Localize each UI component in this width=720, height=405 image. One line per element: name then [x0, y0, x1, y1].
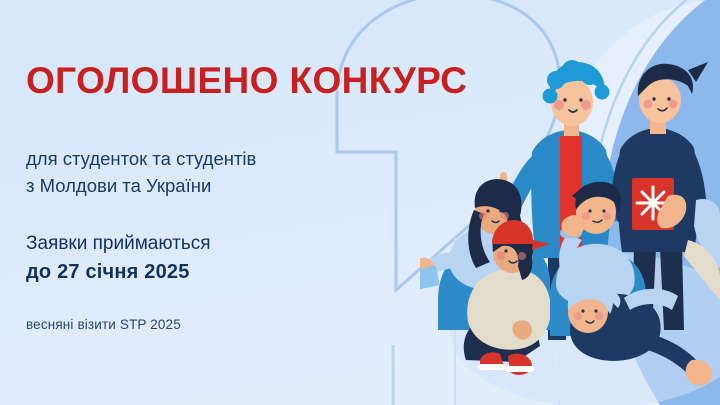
- audience-paragraph: для студенток та студентів з Молдови та …: [26, 145, 256, 200]
- figure-lying-light-blue-hair: [568, 283, 712, 385]
- text-column: ОГОЛОШЕНО КОНКУРС для студенток та студе…: [26, 0, 456, 405]
- figure-red-cap-seated: [464, 220, 551, 375]
- program-footnote: весняні візити STP 2025: [26, 317, 181, 332]
- accent-blue-petal: [603, 0, 720, 405]
- starburst-emblem-icon: [637, 187, 669, 219]
- deadline-date-text: до 27 січня 2025: [26, 258, 211, 286]
- figure-blue-hair-pointing: [498, 60, 620, 340]
- pointing-hand-icon: [498, 172, 509, 214]
- deadline-lead-text: Заявки приймаються: [26, 231, 211, 258]
- red-cap: [492, 220, 550, 250]
- poster-canvas: ОГОЛОШЕНО КОНКУРС для студенток та студе…: [0, 0, 720, 405]
- page-headline: ОГОЛОШЕНО КОНКУРС: [26, 62, 467, 101]
- pale-arc-shape: [545, 0, 720, 405]
- red-sneakers: [478, 352, 534, 374]
- red-book-with-emblem: [632, 178, 674, 230]
- figure-chin-on-hand: [550, 182, 646, 336]
- audience-line-2: з Молдови та України: [26, 172, 256, 199]
- figure-holding-red-book: [612, 62, 708, 330]
- figure-partial-right-edge: [684, 199, 720, 300]
- ground-pool-shape: [450, 252, 720, 405]
- accent-stroke: [592, 0, 700, 198]
- audience-line-1: для студенток та студентів: [26, 145, 256, 172]
- deadline-paragraph: Заявки приймаються до 27 січня 2025: [26, 231, 211, 286]
